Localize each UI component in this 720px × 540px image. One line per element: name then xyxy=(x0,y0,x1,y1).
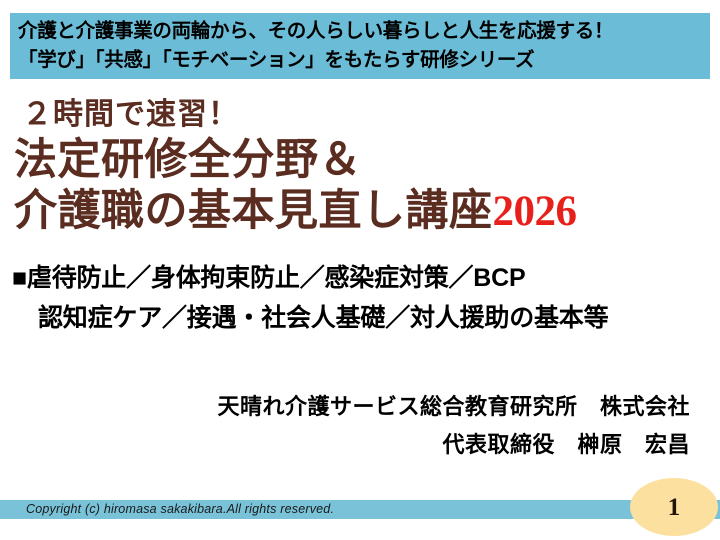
square-bullet-icon: ■ xyxy=(12,264,27,292)
title-block: ２時間で速習！ 法定研修全分野＆ 介護職の基本見直し講座2026 xyxy=(14,96,714,238)
attribution-block: 天晴れ介護サービス総合教育研究所 株式会社 代表取締役 榊原 宏昌 xyxy=(217,388,690,464)
header-banner: 介護と介護事業の両輪から、その人らしい暮らしと人生を応援する！ 「学び」「共感」… xyxy=(10,13,710,79)
title-line-2: 介護職の基本見直し講座2026 xyxy=(14,185,714,238)
title-line-1: 法定研修全分野＆ xyxy=(14,134,714,187)
page-number-label: 1 xyxy=(668,495,681,520)
header-tagline-line-1: 介護と介護事業の両輪から、その人らしい暮らしと人生を応援する！ xyxy=(18,17,710,46)
title-year: 2026 xyxy=(493,188,577,235)
header-tagline-line-2: 「学び」「共感」「モチベーション」をもたらす研修シリーズ xyxy=(18,46,710,75)
title-line-2-text: 介護職の基本見直し講座 xyxy=(14,187,493,235)
topic-line-1: ■虐待防止／身体拘束防止／感染症対策／BCP xyxy=(12,258,712,298)
attribution-person: 代表取締役 榊原 宏昌 xyxy=(217,426,690,464)
copyright-text: Copyright (c) hiromasa sakakibara.All ri… xyxy=(26,501,334,518)
title-kicker: ２時間で速習！ xyxy=(14,96,714,134)
page-number-badge: 1 xyxy=(630,478,718,536)
slide-canvas: 介護と介護事業の両輪から、その人らしい暮らしと人生を応援する！ 「学び」「共感」… xyxy=(0,0,720,540)
attribution-organization: 天晴れ介護サービス総合教育研究所 株式会社 xyxy=(217,388,690,426)
topic-line-2: 認知症ケア／接遇・社会人基礎／対人援助の基本等 xyxy=(12,298,712,338)
topic-line-1-text: 虐待防止／身体拘束防止／感染症対策／BCP xyxy=(27,264,526,292)
topic-list: ■虐待防止／身体拘束防止／感染症対策／BCP 認知症ケア／接遇・社会人基礎／対人… xyxy=(12,258,712,338)
